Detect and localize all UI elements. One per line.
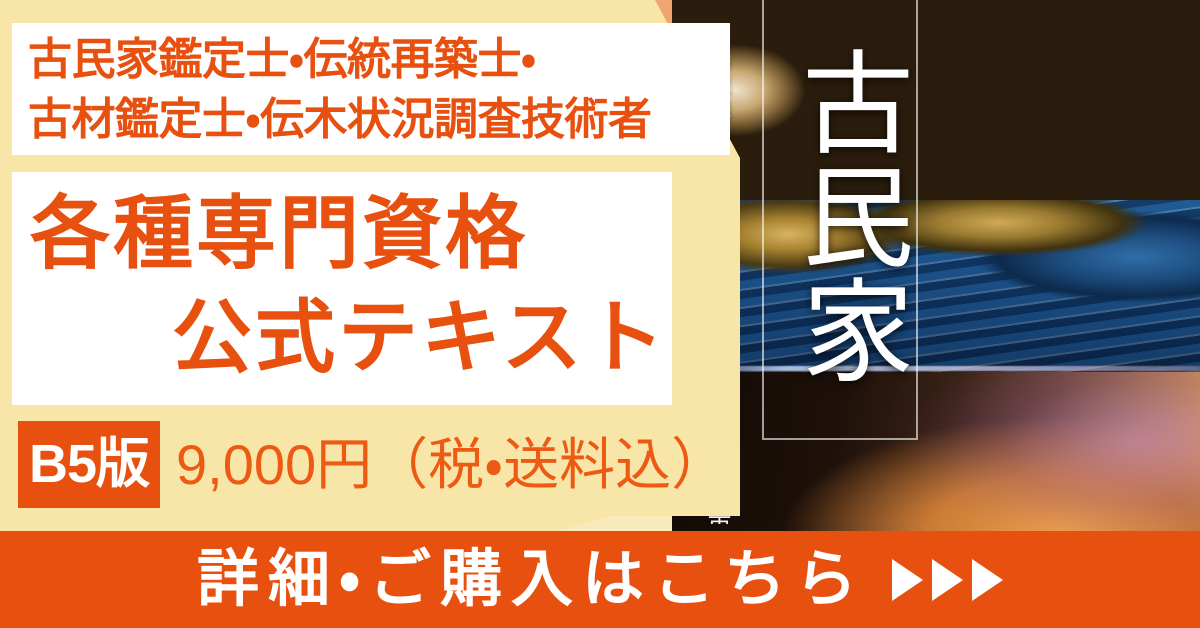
qualifications-line-1: 古民家鑑定士・伝統再築士・ bbox=[12, 23, 730, 90]
carved-wood-texture bbox=[672, 0, 1200, 215]
cta-arrows bbox=[892, 559, 1003, 601]
cta-bar[interactable]: 詳細・ご購入はこちら bbox=[0, 531, 1200, 628]
cta-label: 詳細・ご購入はこちら bbox=[197, 531, 866, 628]
blue-wave-carving bbox=[672, 200, 1200, 390]
play-arrow-icon bbox=[892, 559, 923, 601]
headline-line-2: 公式テキスト bbox=[12, 286, 672, 390]
cover-horizon-line bbox=[672, 366, 1200, 371]
book-cover-image bbox=[672, 0, 1200, 540]
play-arrow-icon bbox=[972, 559, 1003, 601]
price-text: 9,000円（税・送料込） bbox=[176, 421, 727, 508]
cover-lower-gradient bbox=[672, 372, 1200, 540]
qualifications-line-2: 古材鑑定士・伝木状況調査技術者 bbox=[12, 90, 730, 150]
qualifications-block: 古民家鑑定士・伝統再築士・ 古材鑑定士・伝木状況調査技術者 bbox=[12, 23, 730, 155]
promo-banner: 伝統構法 古民家活用のための調査と再生の 古民家 古民家鑑定士・伝統再築士・ 古… bbox=[0, 0, 1200, 628]
format-badge: B5版 bbox=[18, 421, 160, 508]
book-cover-title: 古民家 bbox=[772, 6, 910, 426]
headline-line-1: 各種専門資格 bbox=[12, 172, 672, 286]
play-arrow-icon bbox=[932, 559, 963, 601]
headline-block: 各種専門資格 公式テキスト bbox=[12, 172, 672, 405]
